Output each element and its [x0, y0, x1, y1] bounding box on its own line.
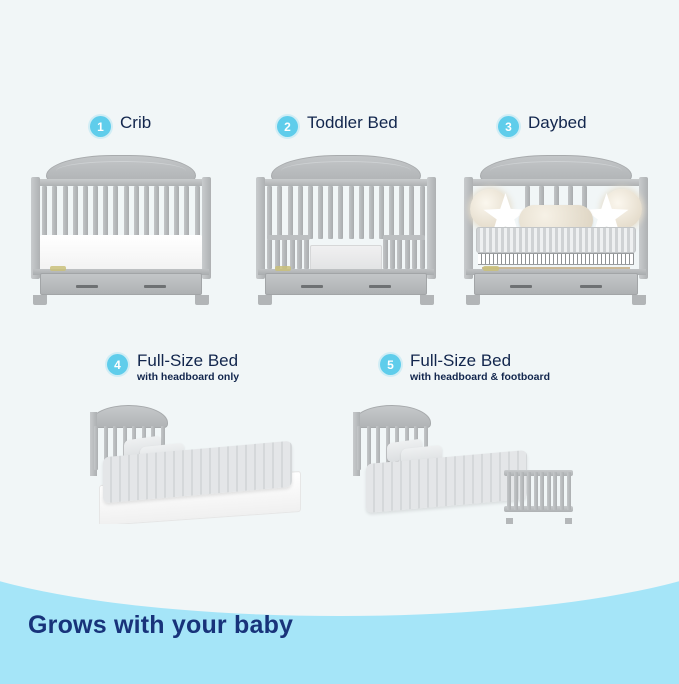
drawer-handle-left [301, 285, 323, 288]
crib-foot-right [195, 295, 209, 305]
step-badge-4: 4 [107, 354, 128, 375]
toddler-foot-left [258, 295, 272, 305]
bottom-banner: Grows with your baby [0, 524, 679, 684]
step-badge-1: 1 [90, 116, 111, 137]
toddler-guard-rail-right [383, 239, 425, 269]
daybed-foot-right [632, 295, 646, 305]
daybed-illustration [458, 155, 654, 305]
bed5-footboard [504, 465, 573, 519]
step-label-1: 1 Crib [90, 114, 151, 137]
toddler-bed-illustration [250, 155, 442, 305]
step-title-4: Full-Size Bed [137, 352, 239, 370]
step-subtitle-4: with headboard only [137, 372, 239, 383]
drawer-handle-right [580, 285, 602, 288]
daybed-top-rail [466, 179, 646, 186]
toddler-storage-drawer [265, 273, 426, 295]
toddler-headboard-arch [271, 155, 421, 181]
drawer-handle-left [510, 285, 532, 288]
daybed-springs [478, 253, 635, 265]
step-label-4: 4 Full-Size Bed with headboard only [107, 352, 239, 383]
crib-storage-drawer [40, 273, 201, 295]
toddler-foot-right [420, 295, 434, 305]
toddler-slats [267, 186, 424, 239]
crib-headboard-arch [46, 155, 196, 181]
step-badge-5: 5 [380, 354, 401, 375]
full-size-bed-headboard-footboard-illustration [348, 400, 578, 535]
step-label-2: 2 Toddler Bed [277, 114, 398, 137]
banner-headline: Grows with your baby [28, 611, 293, 640]
step-label-3: 3 Daybed [498, 114, 587, 137]
step-title-3: Daybed [528, 114, 587, 132]
daybed-storage-drawer [474, 273, 639, 295]
step-subtitle-5: with headboard & footboard [410, 372, 550, 383]
toddler-post-right [427, 177, 436, 279]
crib-mattress [40, 235, 201, 269]
infographic-stage: 1 Crib 2 Toddler Bed 3 Daybed 4 Full-Siz… [0, 0, 679, 684]
crib-post-right [202, 177, 211, 279]
drawer-handle-right [144, 285, 166, 288]
brand-logo [275, 266, 291, 271]
daybed-foot-left [466, 295, 480, 305]
crib-post-left [31, 177, 40, 279]
crib-illustration [25, 155, 217, 305]
daybed-mattress [476, 227, 637, 253]
toddler-guard-rail-left [267, 239, 309, 269]
banner-curve-decoration [0, 524, 679, 616]
brand-logo [50, 266, 66, 271]
crib-foot-left [33, 295, 47, 305]
step-badge-3: 3 [498, 116, 519, 137]
full-size-bed-headboard-illustration [85, 400, 315, 535]
step-title-1: Crib [120, 114, 151, 132]
step-title-5: Full-Size Bed [410, 352, 550, 370]
step-label-5: 5 Full-Size Bed with headboard & footboa… [380, 352, 550, 383]
toddler-post-left [256, 177, 265, 279]
brand-logo [483, 266, 499, 271]
drawer-handle-right [369, 285, 391, 288]
toddler-mattress [310, 245, 383, 271]
daybed-headboard-arch [480, 155, 633, 181]
toddler-top-rail [258, 179, 435, 186]
drawer-handle-left [76, 285, 98, 288]
crib-top-rail [33, 179, 210, 186]
step-badge-2: 2 [277, 116, 298, 137]
step-title-2: Toddler Bed [307, 114, 398, 132]
